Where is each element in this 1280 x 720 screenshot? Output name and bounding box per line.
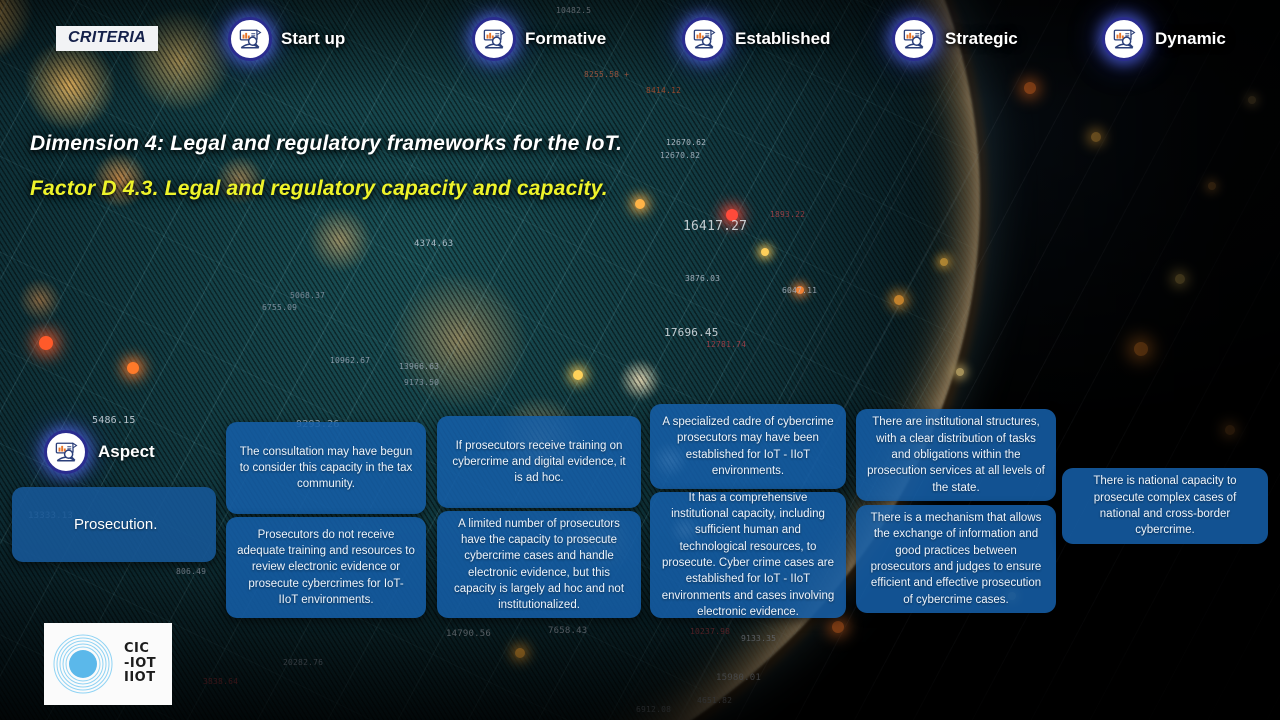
criteria-card[interactable]: If prosecutors receive training on cyber… [437,416,641,508]
criteria-card[interactable]: There is national capacity to prosecute … [1062,468,1268,544]
criteria-card[interactable]: A limited number of prosecutors have the… [437,511,641,618]
radial-rings-icon [52,631,118,697]
criteria-card[interactable]: Prosecutors do not receive adequate trai… [226,517,426,618]
stage-label: Dynamic [1155,29,1226,49]
stage-label: Formative [525,29,606,49]
criteria-card[interactable]: It has a comprehensive institutional cap… [650,492,846,618]
report-magnifier-icon [472,17,516,61]
stage-label: Established [735,29,830,49]
stage-header-strategic[interactable]: Strategic [892,17,1018,61]
report-magnifier-icon [1102,17,1146,61]
logo-wordmark: CIC -IOT IIOT [124,642,156,686]
report-magnifier-icon [892,17,936,61]
report-magnifier-icon [44,430,88,474]
aspect-value-card[interactable]: Prosecution. [12,487,216,562]
criteria-card[interactable]: There are institutional structures, with… [856,409,1056,501]
dimension-title: Dimension 4: Legal and regulatory framew… [30,132,622,156]
stage-header-dynamic[interactable]: Dynamic [1102,17,1226,61]
criteria-card[interactable]: A specialized cadre of cybercrime prosec… [650,404,846,489]
aspect-header: Aspect [44,430,155,474]
report-magnifier-icon [228,17,272,61]
stage-header-formative[interactable]: Formative [472,17,606,61]
logo-line-1: CIC [124,641,149,656]
criteria-badge: CRITERIA [56,26,158,51]
stage-label: Start up [281,29,345,49]
logo-line-2: -IOT [124,656,156,671]
criteria-card[interactable]: There is a mechanism that allows the exc… [856,505,1056,613]
logo-line-3: IIOT [124,670,156,685]
stage-header-start-up[interactable]: Start up [228,17,345,61]
report-magnifier-icon [682,17,726,61]
factor-title: Factor D 4.3. Legal and regulatory capac… [30,177,608,201]
cic-iot-iiot-logo: CIC -IOT IIOT [44,623,172,705]
aspect-label: Aspect [98,442,155,462]
stage-header-established[interactable]: Established [682,17,830,61]
criteria-card[interactable]: The consultation may have begun to consi… [226,422,426,514]
stage-label: Strategic [945,29,1018,49]
